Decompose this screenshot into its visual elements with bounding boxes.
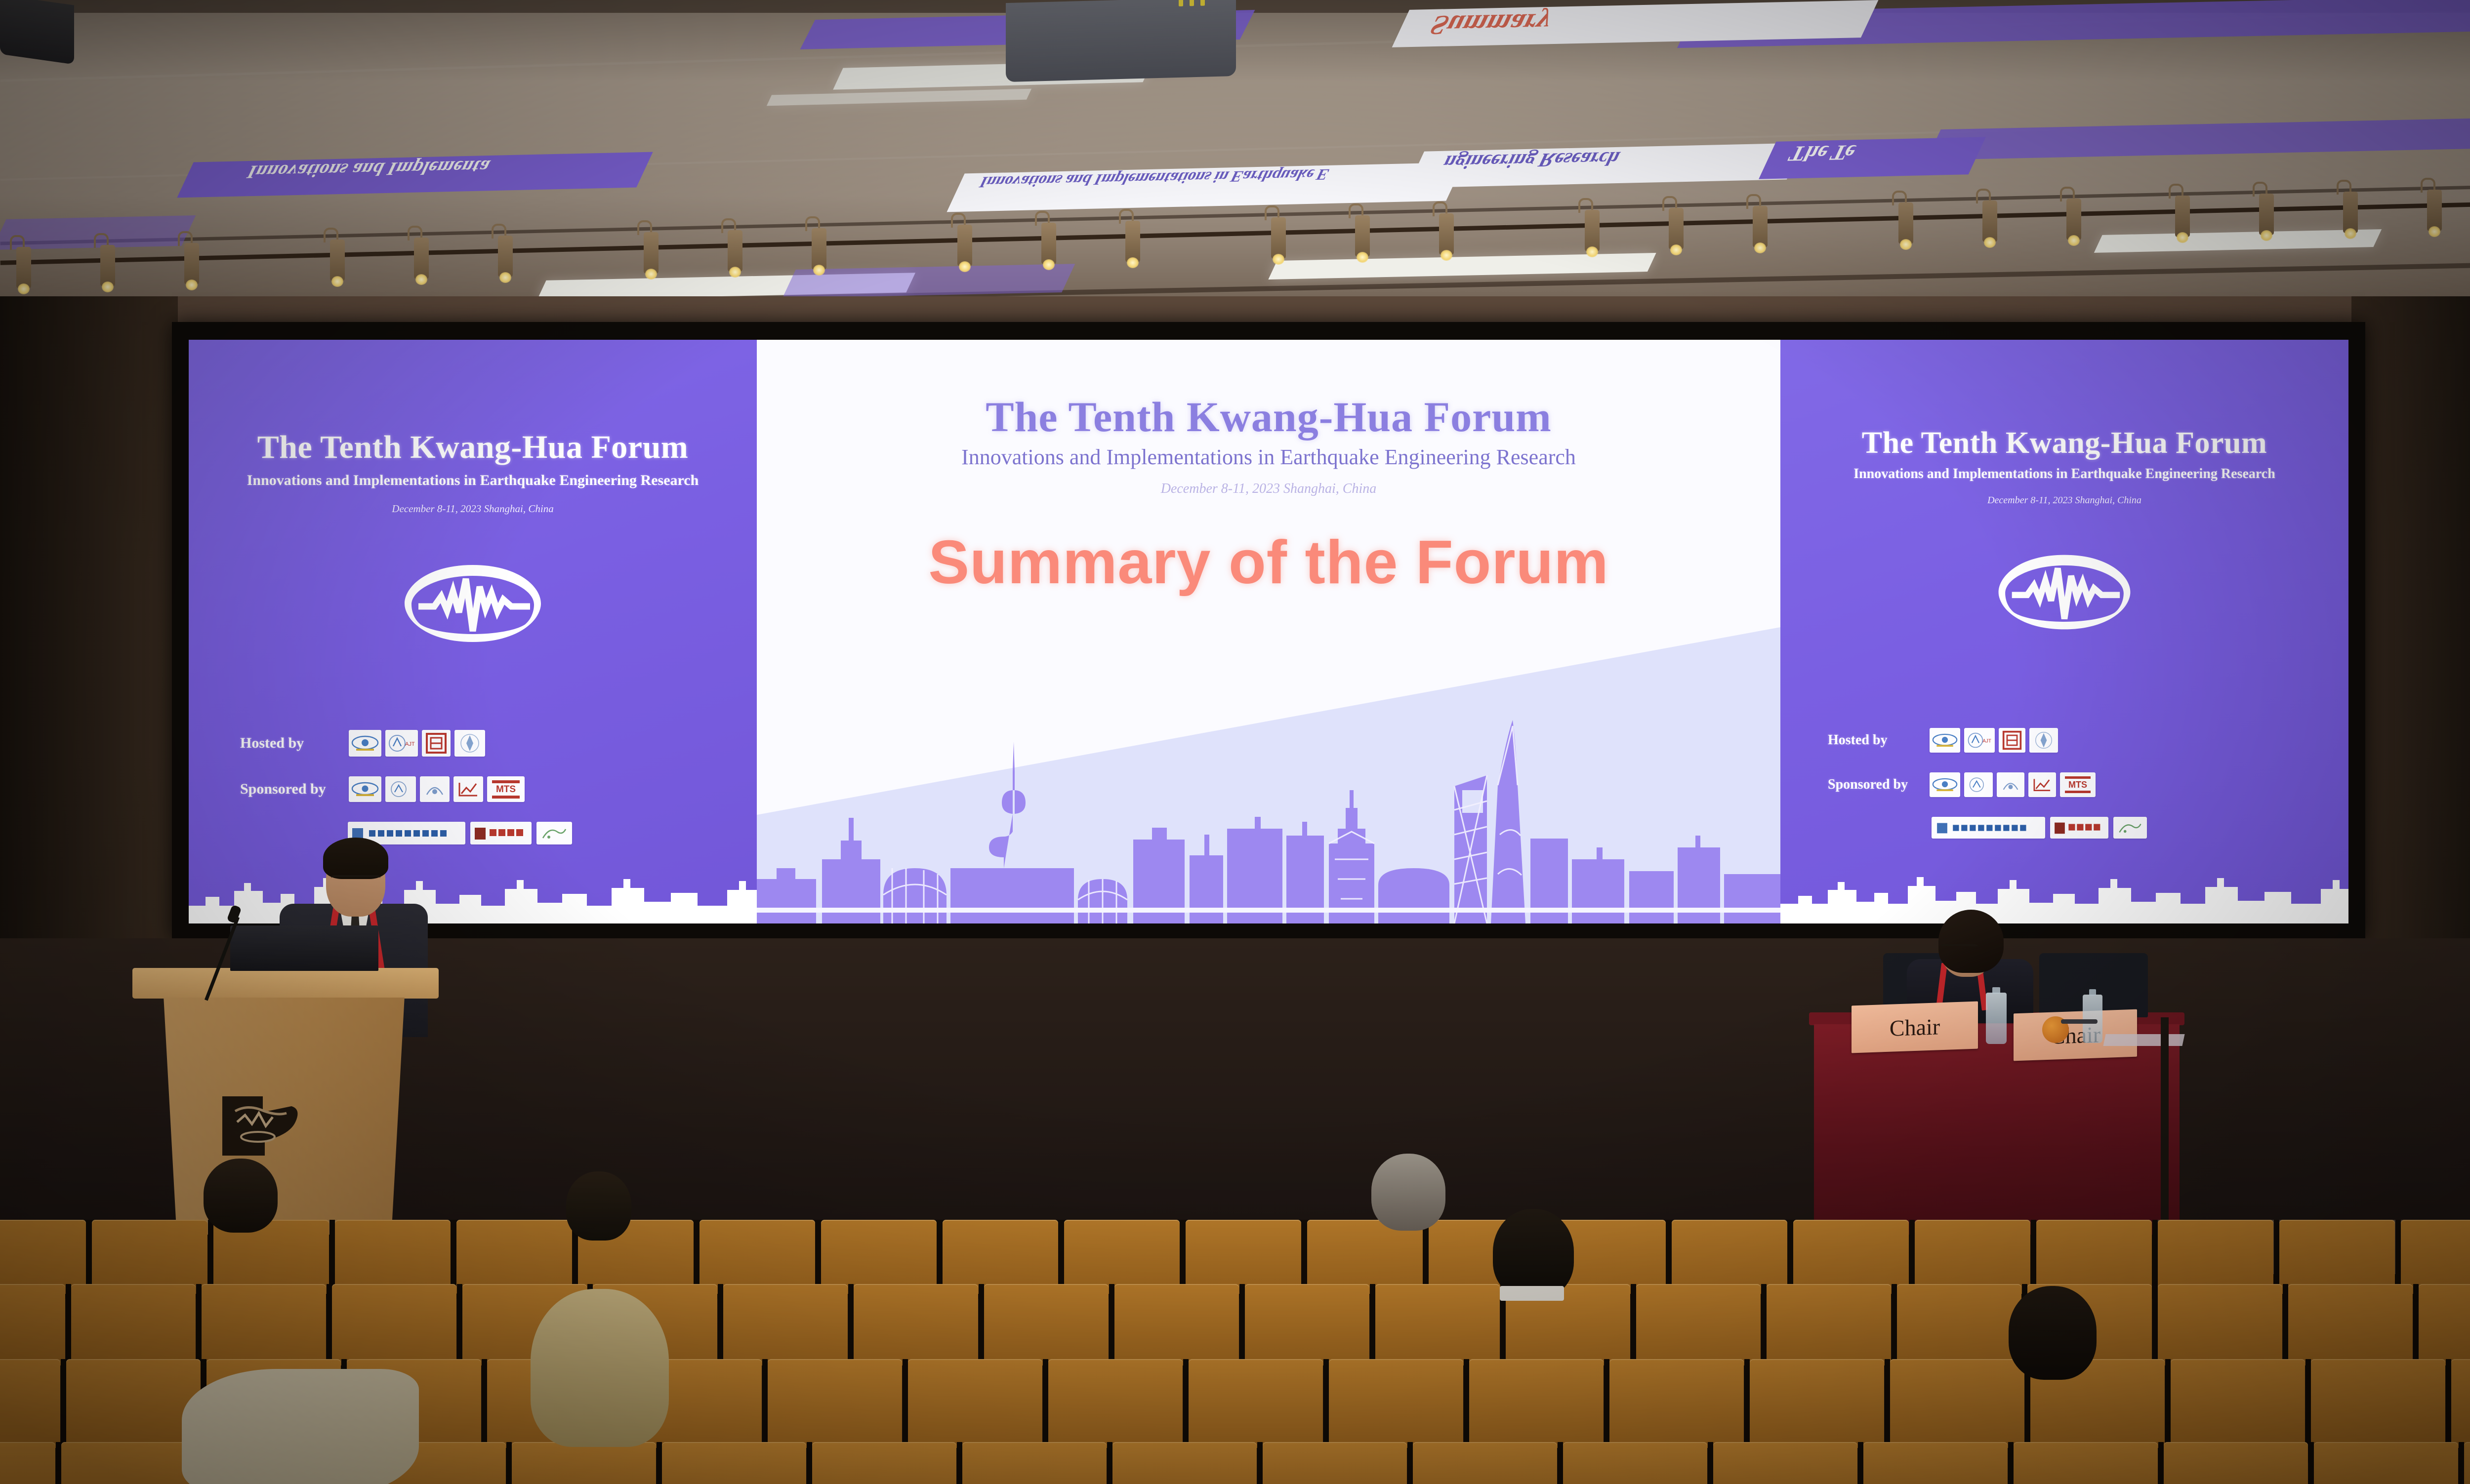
logo-tile [470, 822, 532, 844]
skyline-right [1780, 854, 2348, 923]
auditorium-seat[interactable] [71, 1284, 196, 1365]
auditorium-seat[interactable] [2464, 1442, 2470, 1484]
left-panel-subtitle: Innovations and Implementations in Earth… [189, 472, 757, 489]
ceiling-reflection-strip-farright: The Te [1759, 137, 1986, 179]
track-spotlight [728, 230, 742, 272]
auditorium-seat[interactable] [1713, 1442, 1857, 1484]
auditorium-seat[interactable] [821, 1220, 937, 1294]
seat-divider [2158, 1442, 2164, 1484]
presenter-glasses [331, 875, 380, 885]
right-panel-date: December 8-11, 2023 Shanghai, China [1780, 495, 2348, 506]
auditorium-seat[interactable] [1897, 1284, 2021, 1365]
speaker-podium [132, 968, 439, 1235]
track-spotlight [1271, 217, 1286, 259]
auditorium-seat[interactable] [723, 1284, 848, 1365]
track-spotlight [1669, 208, 1684, 249]
auditorium-seat[interactable] [2014, 1442, 2158, 1484]
auditorium-seat[interactable] [1915, 1220, 2030, 1294]
auditorium-seat[interactable] [2419, 1284, 2470, 1365]
hosted-by-row: Hosted by AJT [240, 730, 485, 757]
track-spotlight [1898, 202, 1913, 244]
logo-tile: AJT [1964, 728, 1995, 753]
svg-text:AJT: AJT [405, 741, 415, 747]
track-spotlight [2259, 194, 2274, 235]
track-spotlight [498, 236, 513, 277]
track-spotlight [414, 238, 429, 279]
auditorium-seat[interactable] [768, 1359, 902, 1448]
seat-divider [2008, 1442, 2014, 1484]
auditorium-seat[interactable] [1375, 1284, 1500, 1365]
auditorium-seat[interactable] [662, 1442, 806, 1484]
seat-divider [56, 1442, 61, 1484]
auditorium-seat[interactable] [0, 1442, 55, 1484]
seat-divider [2459, 1442, 2464, 1484]
track-spotlight [1125, 221, 1140, 262]
auditorium-seat[interactable] [2158, 1220, 2273, 1294]
ceiling: Innovations and Implementa Innovations a… [0, 0, 2470, 326]
auditorium-seat[interactable] [1672, 1220, 1787, 1294]
auditorium-seat[interactable] [2036, 1220, 2152, 1294]
logo-tile [2113, 817, 2147, 839]
podium-top [132, 968, 439, 999]
track-spotlight [1753, 206, 1768, 247]
track-spotlight [2427, 190, 2442, 231]
logo-tile [454, 730, 485, 757]
seat-divider [957, 1442, 962, 1484]
seat-divider [1858, 1442, 1863, 1484]
track-spotlight [644, 232, 659, 274]
seat-divider [1708, 1442, 1713, 1484]
auditorium-seat[interactable] [1329, 1359, 1463, 1448]
track-spotlight [2343, 192, 2358, 233]
track-spotlight [1982, 201, 1997, 242]
hosted-by-label: Hosted by [240, 735, 346, 752]
center-panel-title: The Tenth Kwang-Hua Forum [757, 392, 1780, 441]
auditorium-seat[interactable] [2158, 1284, 2282, 1365]
auditorium-seat[interactable] [2164, 1442, 2308, 1484]
ceiling-reflection-text: The Te [1761, 137, 1986, 174]
ceiling-reflection-strip-mid: Innovations and Implementations in Earth… [947, 162, 1464, 212]
right-panel-subtitle: Innovations and Implementations in Earth… [1780, 466, 2348, 482]
coat-over-seat [182, 1369, 419, 1484]
auditorium-seat[interactable] [92, 1220, 207, 1294]
center-panel-date: December 8-11, 2023 Shanghai, China [757, 481, 1780, 497]
track-spotlight [100, 245, 115, 286]
left-panel-date: December 8-11, 2023 Shanghai, China [189, 503, 757, 515]
auditorium-seat[interactable] [908, 1359, 1042, 1448]
auditorium-seat[interactable] [854, 1284, 978, 1365]
presenter-hair [323, 838, 388, 879]
sponsored-by-label: Sponsored by [240, 781, 346, 798]
hosted-by-label: Hosted by [1828, 732, 1927, 748]
auditorium-seat[interactable] [1863, 1442, 2008, 1484]
logo-tile [349, 730, 381, 757]
ceiling-light-panel [767, 89, 1031, 106]
seat-divider [506, 1442, 512, 1484]
auditorium-seat[interactable] [512, 1442, 656, 1484]
chair-hair [1938, 910, 2004, 973]
screen-panel-right: The Tenth Kwang-Hua Forum Innovations an… [1780, 340, 2348, 923]
auditorium-seat[interactable] [1890, 1359, 2024, 1448]
auditorium-seat[interactable] [1245, 1284, 1369, 1365]
water-bottle [1986, 993, 2007, 1044]
presenter-laptop [230, 925, 378, 971]
auditorium-seat[interactable] [700, 1220, 815, 1294]
chair-glasses [1940, 944, 1978, 953]
screen-panel-center: The Tenth Kwang-Hua Forum Innovations an… [757, 340, 1780, 923]
svg-text:AJT: AJT [1982, 739, 1991, 744]
auditorium-seat[interactable] [2401, 1220, 2470, 1294]
auditorium-seat[interactable] [2171, 1359, 2305, 1448]
ceiling-reflection-strip-left: Innovations and Implementa [177, 152, 653, 198]
table-side-stand [2161, 1017, 2169, 1225]
logo-tile [1930, 728, 1960, 753]
logo-tile [453, 776, 483, 802]
logo-tile [2050, 817, 2108, 839]
auditorium-seat[interactable] [1750, 1359, 1884, 1448]
auditorium-seat[interactable] [1112, 1442, 1257, 1484]
mts-logo-text: MTS [2068, 780, 2087, 789]
auditorium-seat[interactable] [2311, 1359, 2445, 1448]
auditorium-seat[interactable] [1636, 1284, 1761, 1365]
center-panel-headline: Summary of the Forum [757, 527, 1780, 598]
auditorium-seat[interactable] [0, 1359, 60, 1448]
logo-tile [422, 730, 451, 757]
shanghai-skyline-silhouette [757, 711, 1780, 923]
logo-tile-mts: MTS [2060, 772, 2096, 797]
auditorium-seat[interactable] [2314, 1442, 2458, 1484]
logo-tile-mts: MTS [487, 776, 525, 802]
seat-divider [1257, 1442, 1263, 1484]
auditorium-seat[interactable] [1793, 1220, 1909, 1294]
ceiling-light-panel [1268, 253, 1656, 280]
skyline-left [189, 854, 757, 923]
track-spotlight [1439, 213, 1454, 255]
right-panel-title: The Tenth Kwang-Hua Forum [1780, 426, 2348, 461]
auditorium-seat[interactable] [2288, 1284, 2413, 1365]
track-spotlight [330, 240, 345, 281]
track-spotlight [1041, 223, 1056, 264]
seat-divider [1558, 1442, 1563, 1484]
ceiling-projector [1006, 0, 1236, 82]
logo-tile [2028, 772, 2056, 797]
audience-member-head [531, 1289, 669, 1447]
ceiling-reflection-text: Innovations and Implementations in Earth… [952, 162, 1464, 201]
track-spotlight [16, 247, 31, 288]
auditorium-seat[interactable] [943, 1220, 1058, 1294]
audience-member-head [1371, 1154, 1445, 1231]
seat-divider [807, 1442, 812, 1484]
logo-tile [1964, 772, 1993, 797]
auditorium-seat[interactable] [335, 1220, 451, 1294]
audience-member-head [566, 1171, 631, 1241]
auditorium-seat[interactable] [1609, 1359, 1744, 1448]
logo-tile [385, 776, 416, 802]
seat-divider [2308, 1442, 2314, 1484]
seat-divider [657, 1442, 662, 1484]
logo-tile [420, 776, 450, 802]
track-spotlight [1585, 210, 1600, 251]
audience-member-collar [1500, 1286, 1564, 1301]
center-panel-subtitle: Innovations and Implementations in Earth… [757, 444, 1780, 470]
auditorium-seat[interactable] [0, 1284, 65, 1365]
auditorium-seat[interactable] [1189, 1359, 1323, 1448]
sponsored-by-label: Sponsored by [1828, 777, 1927, 793]
logo-tile [536, 822, 572, 844]
auditorium-seat[interactable] [0, 1220, 86, 1294]
auditorium-seat[interactable] [1114, 1284, 1239, 1365]
logo-tile [1930, 772, 1960, 797]
auditorium-seat[interactable] [66, 1359, 201, 1448]
logo-tile: AJT [385, 730, 418, 757]
ceiling-speaker [0, 0, 74, 65]
logo-tile [2029, 728, 2058, 753]
seismic-wave-logo [1993, 547, 2136, 638]
auditorium-seat[interactable] [1767, 1284, 1891, 1365]
auditorium-seat[interactable] [332, 1284, 456, 1365]
papers-on-table [2103, 1034, 2184, 1046]
auditorium-seat[interactable] [1263, 1442, 1407, 1484]
track-spotlight [2066, 199, 2081, 240]
placard-label: Chair [1890, 1013, 1940, 1042]
auditorium-seat[interactable] [1064, 1220, 1180, 1294]
logo-tile [1999, 728, 2025, 753]
auditorium-seat[interactable] [1048, 1359, 1183, 1448]
auditorium-seat[interactable] [1469, 1359, 1604, 1448]
track-spotlight [1355, 215, 1370, 257]
microphone-stand-table [2061, 1019, 2098, 1024]
auditorium-seat[interactable] [202, 1284, 326, 1365]
mts-logo-text: MTS [496, 785, 516, 794]
auditorium-seat[interactable] [962, 1442, 1107, 1484]
track-spotlight [184, 243, 199, 284]
hosted-by-row: Hosted by AJT [1828, 728, 2058, 753]
ceiling-light-panel [2094, 229, 2382, 253]
auditorium-seat[interactable] [2451, 1359, 2470, 1448]
track-spotlight [812, 228, 826, 270]
audience-member-head [2009, 1286, 2097, 1380]
ceiling-reflection-text: Innovations and Implementa [180, 152, 653, 191]
audience-member-head [1493, 1209, 1574, 1298]
track-spotlight [2175, 196, 2190, 237]
seat-divider [1407, 1442, 1413, 1484]
seismic-wave-logo [399, 557, 547, 651]
auditorium-seat[interactable] [812, 1442, 956, 1484]
auditorium-seat[interactable] [1413, 1442, 1557, 1484]
auditorium-seat[interactable] [456, 1220, 572, 1294]
ceiling-reflection-text: ngineering Research [1410, 143, 1804, 182]
auditorium-photo: Innovations and Implementa Innovations a… [0, 0, 2470, 1484]
auditorium-seat[interactable] [984, 1284, 1109, 1365]
name-placard-chair-1: Chair [1852, 1002, 1978, 1053]
water-bottle [2083, 995, 2102, 1043]
left-panel-title: The Tenth Kwang-Hua Forum [189, 429, 757, 466]
logo-tile [1932, 817, 2045, 839]
audience-member-head [204, 1159, 278, 1233]
auditorium-seat[interactable] [2279, 1220, 2395, 1294]
screen-panel-left: The Tenth Kwang-Hua Forum Innovations an… [189, 340, 757, 923]
sponsored-by-row: Sponsored by MTS [240, 776, 525, 802]
logo-tile [349, 776, 381, 802]
logo-tile [1997, 772, 2024, 797]
projection-screen: The Tenth Kwang-Hua Forum Innovations an… [189, 340, 2348, 923]
track-spotlight [957, 225, 972, 266]
auditorium-seat[interactable] [1563, 1442, 1707, 1484]
seat-divider [1107, 1442, 1112, 1484]
tongji-university-emblem [217, 1091, 306, 1165]
sponsored-by-row: Sponsored by MTS [1828, 772, 2096, 797]
ceiling-reflection-strip-right: ngineering Research [1407, 143, 1804, 188]
auditorium-seat[interactable] [1307, 1220, 1423, 1294]
auditorium-seat[interactable] [1186, 1220, 1301, 1294]
sponsored-by-row-2 [1932, 817, 2147, 839]
